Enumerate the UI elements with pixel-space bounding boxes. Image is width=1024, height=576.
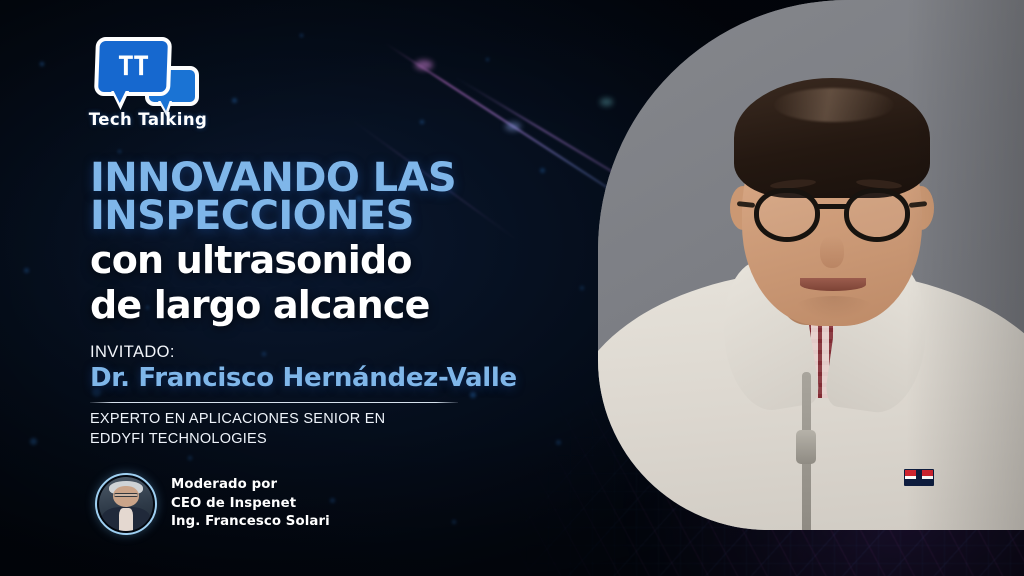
logo-initials-text: TT [118,53,149,80]
page-title-line1: INNOVANDO LAS [90,160,590,198]
divider [90,402,458,404]
slide-canvas: TT Tech Talking INNOVANDO LAS INSPECCION… [0,0,1024,576]
logo-wordmark: Tech Talking [81,110,215,129]
moderator-avatar [95,473,157,535]
moderator-line-3: Ing. Francesco Solari [171,513,330,532]
moderator-line-2: CEO de Inspenet [171,495,330,514]
tech-talking-logo[interactable]: TT Tech Talking [83,28,213,128]
page-subtitle-line1: con ultrasonido [90,241,590,280]
guest-label: INVITADO: [90,343,590,362]
guest-photo-panel [598,0,1024,530]
page-subtitle-line2: de largo alcance [90,286,590,325]
guest-credential-line1: EXPERTO EN APLICACIONES SENIOR EN [90,410,590,429]
moderator-avatar-image [99,477,153,531]
page-title-line2: INSPECCIONES [90,198,590,236]
moderator-text: Moderado por CEO de Inspenet Ing. France… [171,476,330,533]
guest-name: Dr. Francisco Hernández-Valle [90,363,590,393]
logo-initials: TT [95,37,171,96]
photo-edge-shadow [906,0,1024,530]
content-column: INNOVANDO LAS INSPECCIONES con ultrasoni… [90,160,590,449]
moderator-line-1: Moderado por [171,476,330,495]
moderator-block: Moderado por CEO de Inspenet Ing. France… [95,473,330,535]
guest-credential-line2: EDDYFI TECHNOLOGIES [90,430,590,449]
